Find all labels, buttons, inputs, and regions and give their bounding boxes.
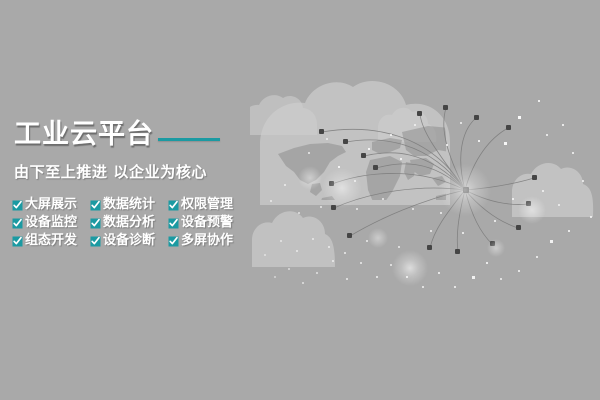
- feature-item-equipment-monitoring[interactable]: 设备监控: [12, 216, 90, 230]
- feature-label: 多屏协作: [181, 234, 233, 248]
- feature-item-equipment-early-warning[interactable]: 设备预警: [168, 216, 246, 230]
- feature-item-data-statistics[interactable]: 数据统计: [90, 198, 168, 212]
- check-box-icon: [90, 218, 101, 229]
- feature-row: 组态开发 设备诊断 多屏协作: [12, 234, 250, 248]
- check-box-icon: [12, 200, 23, 211]
- feature-item-big-screen-display[interactable]: 大屏展示: [12, 198, 90, 212]
- check-box-icon: [168, 200, 179, 211]
- cloud-world-network-illustration: [250, 80, 600, 310]
- feature-list: 大屏展示 数据统计 权限管理: [0, 198, 250, 248]
- feature-label: 数据分析: [103, 216, 155, 230]
- feature-row: 大屏展示 数据统计 权限管理: [12, 198, 250, 212]
- check-box-icon: [90, 236, 101, 247]
- feature-row: 设备监控 数据分析 设备预警: [12, 216, 250, 230]
- feature-item-equipment-diagnosis[interactable]: 设备诊断: [90, 234, 168, 248]
- feature-label: 设备诊断: [103, 234, 155, 248]
- feature-label: 权限管理: [181, 198, 233, 212]
- check-box-icon: [12, 236, 23, 247]
- check-box-icon: [168, 236, 179, 247]
- check-box-icon: [12, 218, 23, 229]
- check-box-icon: [90, 200, 101, 211]
- hero-banner: 工业云平台 由下至上推进 以企业为核心 大屏展示 数据统计: [0, 0, 600, 400]
- page-title: 工业云平台: [14, 118, 154, 152]
- feature-label: 设备监控: [25, 216, 77, 230]
- title-row: 工业云平台: [0, 118, 250, 152]
- feature-item-multi-screen-collaboration[interactable]: 多屏协作: [168, 234, 246, 248]
- feature-label: 数据统计: [103, 198, 155, 212]
- page-subtitle: 由下至上推进 以企业为核心: [0, 161, 250, 182]
- feature-label: 设备预警: [181, 216, 233, 230]
- feature-item-configuration-development[interactable]: 组态开发: [12, 234, 90, 248]
- feature-item-data-analysis[interactable]: 数据分析: [90, 216, 168, 230]
- title-accent-rule: [158, 138, 220, 141]
- check-box-icon: [168, 218, 179, 229]
- hero-text-block: 工业云平台 由下至上推进 以企业为核心 大屏展示 数据统计: [0, 118, 250, 252]
- feature-label: 大屏展示: [25, 198, 77, 212]
- feature-item-permission-management[interactable]: 权限管理: [168, 198, 246, 212]
- cloud-shape-lower-left: [252, 211, 335, 267]
- feature-label: 组态开发: [25, 234, 77, 248]
